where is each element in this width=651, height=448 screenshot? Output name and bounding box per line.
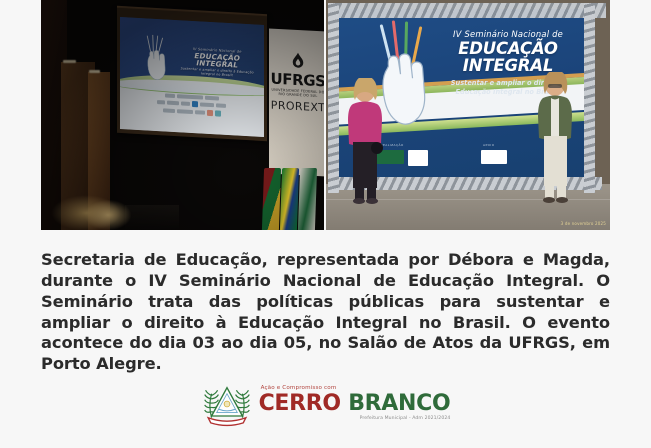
footer-logo-area: Ação e Compromisso com CERRO BRANCO Pref… — [0, 378, 651, 430]
brand-subtitle: Prefeitura Municipal - Adm 2021/2024 — [259, 417, 451, 422]
banner-title: EDUCAÇÃO INTEGRAL — [438, 40, 578, 75]
truss-left — [328, 3, 339, 193]
person-right — [534, 72, 576, 204]
coat-of-arms-icon — [201, 380, 253, 428]
caption-text: Secretaria de Educação, representada por… — [41, 250, 610, 375]
person-left — [344, 78, 386, 204]
auditorium-presentation-photo: IV Seminário Nacional de EDUCAÇÃO INTEGR… — [41, 0, 324, 230]
photo-timestamp-watermark: 3 de novembro 2025 — [561, 221, 606, 226]
truss-right — [584, 3, 595, 193]
city-brand-block: Ação e Compromisso com CERRO BRANCO Pref… — [259, 386, 451, 421]
truss-top — [328, 3, 606, 18]
banner-support-label: APOIO — [483, 143, 494, 147]
banner-outdoor-photo: IV Seminário Nacional de EDUCAÇÃO INTEGR… — [326, 0, 610, 230]
brand-name-second: BRANCO — [348, 391, 450, 416]
page-root: IV Seminário Nacional de EDUCAÇÃO INTEGR… — [0, 0, 651, 448]
brand-name: CERRO BRANCO — [259, 393, 451, 415]
banner-logo-support — [481, 150, 507, 164]
caption-paragraph: Secretaria de Educação, representada por… — [41, 250, 610, 375]
banner-pretitle: IV Seminário Nacional de — [438, 29, 578, 39]
brand-name-first: CERRO — [259, 391, 341, 416]
banner-logo-unesco — [408, 150, 428, 166]
photo-vignette — [41, 0, 324, 230]
photo-strip: IV Seminário Nacional de EDUCAÇÃO INTEGR… — [41, 0, 610, 230]
